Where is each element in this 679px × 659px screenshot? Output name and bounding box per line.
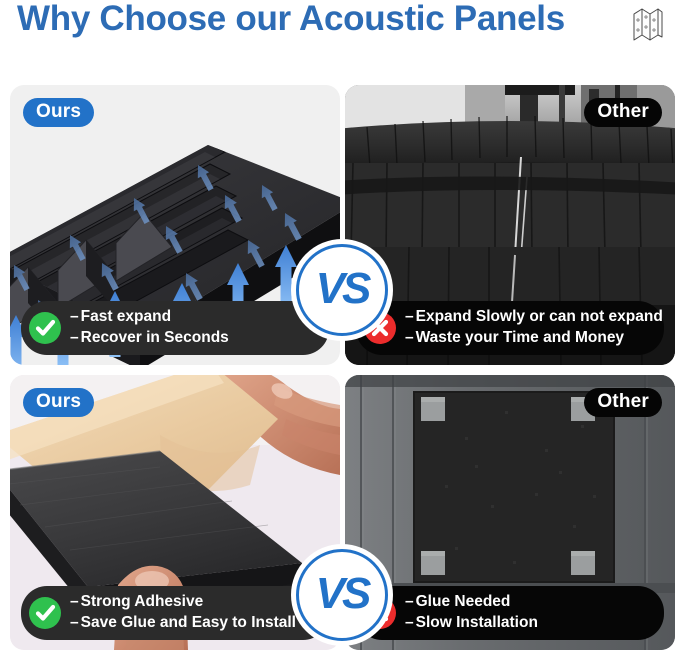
bullet-dash: – [405,329,414,346]
bullet-dash: – [70,593,79,610]
caption-text: Recover in Seconds [81,329,229,346]
comparison-card-installation-ours: Ours –Strong Adhesive –Save Glue and Eas… [10,375,340,650]
badge-other: Other [584,98,662,127]
caption-lines: –Glue Needed –Slow Installation [405,592,538,633]
caption-line: –Waste your Time and Money [405,328,663,348]
caption-line: –Expand Slowly or can not expand [405,307,663,327]
page-header: Why Choose our Acoustic Panels [0,0,679,72]
caption-text: Fast expand [81,308,171,325]
check-circle-icon [29,597,61,629]
caption-text: Strong Adhesive [81,593,204,610]
caption-other-expansion: –Expand Slowly or can not expand –Waste … [356,301,664,355]
caption-other-installation: –Glue Needed –Slow Installation [356,586,664,640]
bullet-dash: – [405,614,414,631]
vs-badge-top: VS [296,244,388,336]
caption-text: Glue Needed [416,593,511,610]
caption-ours-expansion: –Fast expand –Recover in Seconds [21,301,329,355]
caption-text: Slow Installation [416,614,538,631]
bullet-dash: – [70,329,79,346]
caption-line: –Fast expand [70,307,229,327]
caption-text: Waste your Time and Money [416,329,624,346]
check-circle-icon [29,312,61,344]
badge-ours: Ours [23,388,94,417]
caption-lines: –Strong Adhesive –Save Glue and Easy to … [70,592,296,633]
badge-other: Other [584,388,662,417]
caption-text: Save Glue and Easy to Install [81,614,296,631]
comparison-card-expansion-ours: Ours –Fast expand –Recover in Seconds [10,85,340,365]
caption-line: –Glue Needed [405,592,538,612]
vs-badge-bottom: VS [296,549,388,641]
caption-line: –Slow Installation [405,613,538,633]
bullet-dash: – [405,593,414,610]
comparison-grid: Ours –Fast expand –Recover in Seconds [0,84,679,656]
caption-ours-installation: –Strong Adhesive –Save Glue and Easy to … [21,586,329,640]
badge-ours: Ours [23,98,94,127]
caption-lines: –Fast expand –Recover in Seconds [70,307,229,348]
caption-lines: –Expand Slowly or can not expand –Waste … [405,307,663,348]
comparison-card-installation-other: Other –Glue Needed –Slow Installation [345,375,675,650]
bullet-dash: – [70,614,79,631]
bullet-dash: – [405,308,414,325]
page-title: Why Choose our Acoustic Panels [17,0,565,39]
comparison-card-expansion-other: Other –Expand Slowly or can not expand –… [345,85,675,365]
caption-line: –Save Glue and Easy to Install [70,613,296,633]
caption-line: –Recover in Seconds [70,328,229,348]
caption-line: –Strong Adhesive [70,592,296,612]
vs-label: VS [316,572,369,616]
vs-label: VS [316,267,369,311]
bullet-dash: – [70,308,79,325]
caption-text: Expand Slowly or can not expand [416,308,663,325]
acoustic-panel-illustration-icon [629,4,665,44]
